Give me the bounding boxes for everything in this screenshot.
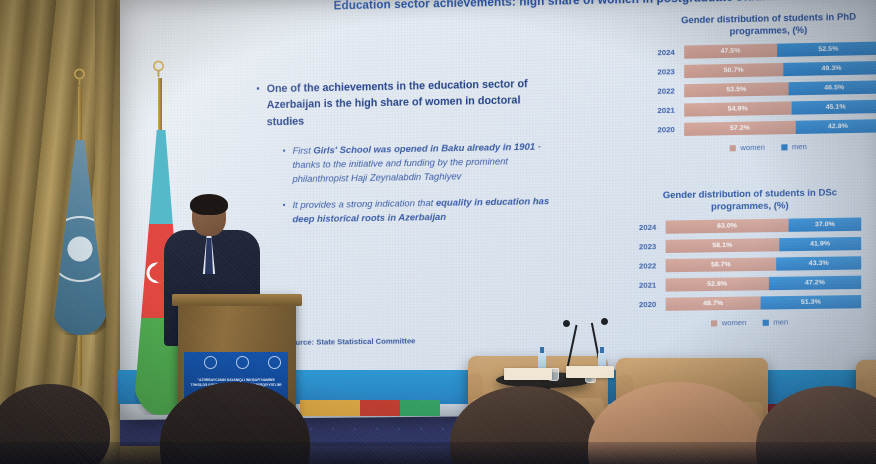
flag-finial-un-icon <box>73 68 86 85</box>
name-card-right <box>566 366 614 378</box>
sub-bullet-2: ▪It provides a strong indication that eq… <box>283 193 561 226</box>
chart-row: 202048.7%51.3% <box>639 294 861 312</box>
bar-segment-men: 51.3% <box>761 295 862 310</box>
legend-swatch-women-icon <box>711 320 717 326</box>
bar-segment-women: 63.0% <box>666 218 789 233</box>
plain-text: First <box>293 146 314 156</box>
legend-label-men: men <box>773 317 788 326</box>
chart-year-label: 2020 <box>639 300 666 309</box>
bar-segment-men: 45.1% <box>791 100 876 115</box>
slide-bullet-block: ▪ One of the achievements in the educati… <box>256 75 561 237</box>
sub-bullet-list: ▪First Girls' School was opened in Baku … <box>256 139 561 226</box>
legend-label-men: men <box>792 142 807 151</box>
bar-segment-men: 41.9% <box>779 237 861 251</box>
bar-segment-men: 42.8% <box>796 119 876 134</box>
chart-dsc-title: Gender distribution of students in DSc p… <box>639 186 861 215</box>
band-gold-2 <box>300 400 360 416</box>
legend-swatch-men-icon <box>782 144 788 150</box>
chart-row: 202447.5%52.5% <box>657 40 876 60</box>
chart-dsc: Gender distribution of students in DSc p… <box>639 186 861 328</box>
chart-row: 202256.7%43.3% <box>639 255 861 273</box>
flag-finial-az-icon <box>152 60 165 77</box>
legend-item-women: women <box>711 318 746 328</box>
bar-segment-women: 52.8% <box>666 277 769 292</box>
legend-swatch-women-icon <box>730 145 736 151</box>
podium-logo-row <box>194 355 290 369</box>
chart-stacked-bar: 56.7%43.3% <box>666 256 862 272</box>
sub-bullet-dot-icon: ▪ <box>283 144 286 187</box>
chart-year-label: 2022 <box>639 261 666 271</box>
legend-item-men: men <box>782 142 807 152</box>
chart-row: 202154.9%45.1% <box>657 99 876 118</box>
legend-item-men: men <box>763 317 788 326</box>
sub-bullet-text: It provides a strong indication that equ… <box>293 193 561 226</box>
chart-year-label: 2021 <box>639 280 666 290</box>
chart-stacked-bar: 47.5%52.5% <box>684 41 876 58</box>
chart-row: 202152.8%47.2% <box>639 274 861 292</box>
chart-year-label: 2024 <box>639 222 666 232</box>
bullet-dot-icon: ▪ <box>256 81 259 130</box>
band-green-2 <box>400 400 440 416</box>
chart-row: 202253.5%46.5% <box>657 79 876 99</box>
chart-stacked-bar: 58.1%41.9% <box>666 237 862 253</box>
chart-stacked-bar: 52.8%47.2% <box>666 275 862 291</box>
bar-segment-women: 48.7% <box>666 296 761 310</box>
microphone-head-left <box>563 320 570 327</box>
main-bullet: ▪ One of the achievements in the educati… <box>256 75 561 130</box>
legend-label-women: women <box>740 142 765 152</box>
chart-stacked-bar: 57.2%42.8% <box>684 119 876 136</box>
bar-segment-women: 50.7% <box>684 63 783 78</box>
chart-phd-rows: 202447.5%52.5%202350.7%49.3%202253.5%46.… <box>657 40 876 137</box>
podium-top <box>172 294 302 306</box>
chart-dsc-legend: women men <box>639 316 861 328</box>
foreground-shadow <box>0 442 876 464</box>
bar-segment-women: 58.1% <box>666 238 779 253</box>
band-red-2 <box>360 400 400 416</box>
slide-source-note: Source: State Statistical Committee <box>286 336 416 347</box>
chart-stacked-bar: 48.7%51.3% <box>666 295 862 311</box>
chart-row: 202057.2%42.8% <box>657 118 876 137</box>
sub-bullet-1: ▪First Girls' School was opened in Baku … <box>283 139 561 187</box>
name-card-left <box>504 368 552 380</box>
bar-segment-women: 53.5% <box>684 82 788 97</box>
legend-swatch-men-icon <box>763 320 769 326</box>
bar-segment-women: 56.7% <box>666 257 777 272</box>
sub-bullet-text: First Girls' School was opened in Baku a… <box>293 139 561 186</box>
screenshot-root: Education sector achievements: high shar… <box>0 0 876 464</box>
chart-year-label: 2020 <box>657 125 684 135</box>
emphasis-text: Girls' School was opened in Baku already… <box>313 142 535 156</box>
chart-year-label: 2021 <box>657 105 684 115</box>
chart-year-label: 2023 <box>639 242 666 252</box>
plain-text: It provides a strong indication that <box>293 197 436 209</box>
bar-segment-men: 49.3% <box>783 61 876 76</box>
bar-segment-women: 57.2% <box>684 121 796 136</box>
bar-segment-women: 54.9% <box>684 101 791 116</box>
chart-stacked-bar: 53.5%46.5% <box>684 80 876 97</box>
chart-phd-title: Gender distribution of students in PhD p… <box>657 10 876 40</box>
bar-segment-women: 47.5% <box>684 44 777 59</box>
legend-item-women: women <box>730 142 765 152</box>
ministry-logo-icon <box>268 356 281 369</box>
bar-segment-men: 52.5% <box>777 41 876 56</box>
legend-label-women: women <box>722 318 747 327</box>
partner-logo-icon <box>204 356 217 369</box>
chart-year-label: 2023 <box>657 67 684 77</box>
bar-segment-men: 37.0% <box>789 217 862 231</box>
sub-bullet-dot-icon: ▪ <box>283 198 286 226</box>
chart-stacked-bar: 54.9%45.1% <box>684 100 876 117</box>
chart-year-label: 2024 <box>657 47 684 57</box>
bar-segment-men: 43.3% <box>776 256 861 270</box>
chart-row: 202350.7%49.3% <box>657 60 876 80</box>
main-bullet-text: One of the achievements in the education… <box>267 75 561 130</box>
chart-phd-legend: women men <box>657 140 876 153</box>
un-logo-icon <box>236 356 249 369</box>
bar-segment-men: 46.5% <box>789 80 876 95</box>
bar-segment-men: 47.2% <box>769 275 862 290</box>
chart-phd: Gender distribution of students in PhD p… <box>657 10 876 154</box>
chart-stacked-bar: 50.7%49.3% <box>684 61 876 78</box>
chart-dsc-rows: 202463.0%37.0%202358.1%41.9%202256.7%43.… <box>639 216 861 312</box>
chart-row: 202463.0%37.0% <box>639 216 861 235</box>
microphone-head-right <box>601 318 608 325</box>
chart-stacked-bar: 63.0%37.0% <box>666 217 862 233</box>
chart-row: 202358.1%41.9% <box>639 236 861 255</box>
speaker-hair <box>190 194 228 215</box>
chart-year-label: 2022 <box>657 86 684 96</box>
